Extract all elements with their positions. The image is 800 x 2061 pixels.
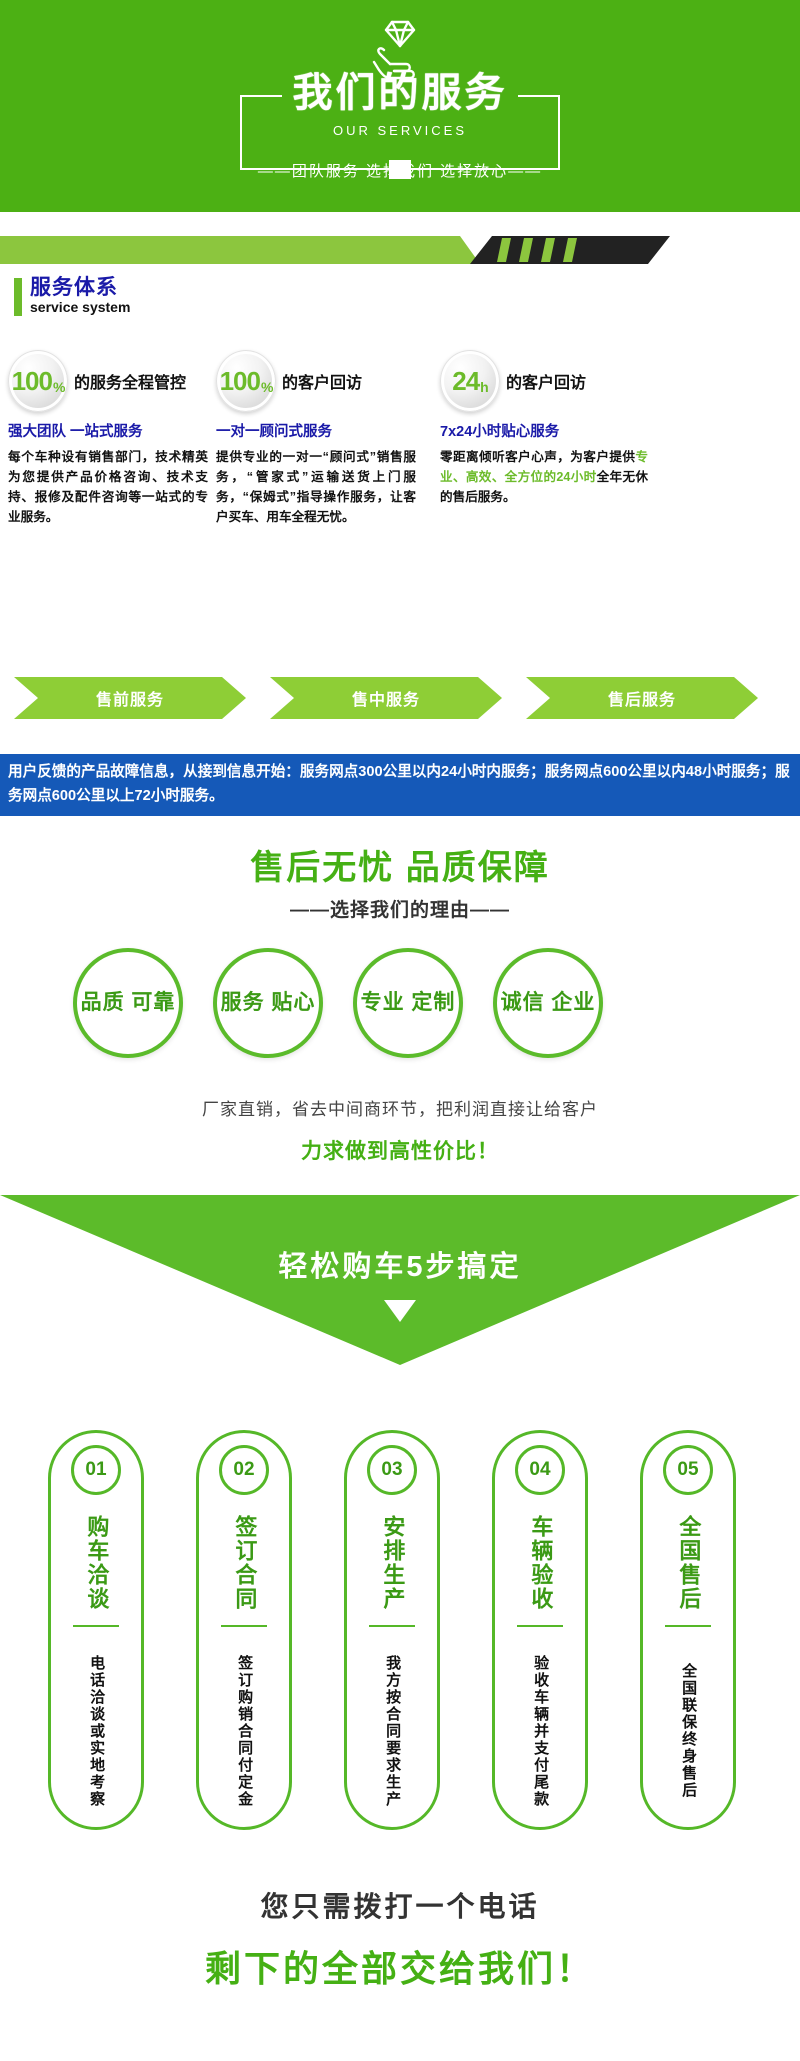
step-card-2[interactable]: 02 签订合同 签订购销合同付定金 (196, 1430, 292, 1830)
step-desc-5: 全国联保终身售后 (678, 1637, 698, 1825)
chevron-label-2: 售中服务 (352, 686, 420, 710)
reason-bubble-label-1: 品质 可靠 (81, 990, 176, 1016)
step-number-4: 04 (515, 1445, 565, 1495)
service-policy-note: 用户反馈的产品故障信息，从接到信息开始：服务网点300公里以内24小时内服务；服… (0, 754, 800, 816)
step-card-5[interactable]: 05 全国售后 全国联保终身售后 (640, 1430, 736, 1830)
step-number-2: 02 (219, 1445, 269, 1495)
chevron-in-sales[interactable]: 售中服务 (270, 677, 502, 719)
step-title-1: 购车洽谈 (84, 1507, 109, 1619)
reason-bubble-quality[interactable]: 品质 可靠 (73, 948, 183, 1058)
footer-line-1: 您只需拨打一个电话 (0, 1885, 800, 1925)
factory-direct-line: 厂家直销，省去中间商环节，把利润直接让给客户 (0, 1095, 800, 1120)
down-caret-icon (384, 1300, 416, 1322)
stat-body-3: 零距离倾听客户心声，为客户提供专业、高效、全方位的24小时全年无休的售后服务。 (440, 448, 648, 508)
stat-column-3: 24h 的客户回访 7x24小时贴心服务 零距离倾听客户心声，为客户提供专业、高… (440, 350, 690, 508)
step-title-4: 车辆验收 (528, 1507, 553, 1619)
hero-tagline: ——团队服务 选择我们 选择放心—— (0, 160, 800, 181)
value-ratio-line: 力求做到高性价比！ (0, 1135, 800, 1165)
step-title-3: 安排生产 (380, 1507, 405, 1619)
stat-body-3-part-1: 零距离倾听客户心声，为客户提供 (440, 450, 635, 464)
step-desc-4: 验收车辆并支付尾款 (530, 1637, 550, 1825)
stat-column-2: 100% 的客户回访 一对一顾问式服务 提供专业的一对一“顾问式”销售服务，“管… (216, 350, 466, 528)
section-decor-bar (0, 232, 800, 268)
step-card-3[interactable]: 03 安排生产 我方按合同要求生产 (344, 1430, 440, 1830)
reasons-subtitle: ——选择我们的理由—— (0, 895, 800, 922)
section-title-en: service system (30, 299, 130, 316)
stat-heading-2: 一对一顾问式服务 (216, 420, 466, 441)
step-card-4[interactable]: 04 车辆验收 验收车辆并支付尾款 (492, 1430, 588, 1830)
stat-value-1: 100 (12, 368, 52, 394)
service-phase-chevrons: 售前服务 售中服务 售后服务 (0, 677, 800, 719)
stat-caption-3: 的客户回访 (506, 369, 586, 393)
stat-heading-3: 7x24小时贴心服务 (440, 420, 690, 441)
section-tick-icon (14, 278, 22, 316)
stat-value-2: 100 (220, 368, 260, 394)
page-subtitle: OUR SERVICES (240, 123, 560, 138)
chevron-label-1: 售前服务 (96, 686, 164, 710)
reason-bubble-label-4: 诚信 企业 (501, 990, 596, 1016)
step-divider-1 (73, 1625, 119, 1627)
step-title-5: 全国售后 (676, 1507, 701, 1619)
step-desc-3: 我方按合同要求生产 (382, 1637, 402, 1825)
step-divider-2 (221, 1625, 267, 1627)
five-step-banner-text: 轻松购车5步搞定 (0, 1243, 800, 1285)
step-number-1: 01 (71, 1445, 121, 1495)
step-desc-2: 签订购销合同付定金 (234, 1637, 254, 1825)
step-desc-1: 电话洽谈或实地考察 (86, 1637, 106, 1825)
stat-caption-1: 的服务全程管控 (74, 369, 186, 393)
chevron-after-sales[interactable]: 售后服务 (526, 677, 758, 719)
reason-bubble-custom[interactable]: 专业 定制 (353, 948, 463, 1058)
step-divider-3 (369, 1625, 415, 1627)
reason-bubble-integrity[interactable]: 诚信 企业 (493, 948, 603, 1058)
reason-bubble-label-2: 服务 贴心 (221, 990, 316, 1016)
reasons-title: 售后无忧 品质保障 (0, 840, 800, 889)
section-header-service-system: 服务体系 service system (14, 276, 130, 316)
stat-body-1: 每个车种设有销售部门，技术精英为您提供产品价格咨询、技术支持、报修及配件咨询等一… (8, 448, 208, 528)
step-number-5: 05 (663, 1445, 713, 1495)
stat-badge-1: 100% (8, 350, 68, 412)
stat-unit-2: % (261, 380, 272, 394)
step-title-2: 签订合同 (232, 1507, 257, 1619)
five-step-banner: 轻松购车5步搞定 (0, 1195, 800, 1405)
reason-bubble-label-3: 专业 定制 (361, 990, 456, 1016)
hero-banner: 我们的服务 OUR SERVICES ——团队服务 选择我们 选择放心—— (0, 0, 800, 212)
stat-unit-1: % (53, 380, 64, 394)
chevron-pre-sales[interactable]: 售前服务 (14, 677, 246, 719)
hero-title-frame: 我们的服务 OUR SERVICES (240, 95, 560, 170)
footer-line-2: 剩下的全部交给我们！ (0, 1940, 800, 1992)
stat-unit-3: h (480, 380, 488, 394)
purchase-steps: 01 购车洽谈 电话洽谈或实地考察 02 签订合同 签订购销合同付定金 03 安… (0, 1430, 800, 1850)
step-divider-4 (517, 1625, 563, 1627)
step-divider-5 (665, 1625, 711, 1627)
stat-body-2: 提供专业的一对一“顾问式”销售服务，“管家式”运输送货上门服务，“保姆式”指导操… (216, 448, 416, 528)
decor-bar-green (0, 236, 480, 264)
section-title-cn: 服务体系 (30, 276, 130, 299)
step-number-3: 03 (367, 1445, 417, 1495)
stat-value-3: 24 (452, 368, 479, 394)
chevron-label-3: 售后服务 (608, 686, 676, 710)
stat-caption-2: 的客户回访 (282, 369, 362, 393)
stat-badge-2: 100% (216, 350, 276, 412)
reason-bubble-service[interactable]: 服务 贴心 (213, 948, 323, 1058)
step-card-1[interactable]: 01 购车洽谈 电话洽谈或实地考察 (48, 1430, 144, 1830)
stat-badge-3: 24h (440, 350, 500, 412)
page-title: 我们的服务 (240, 73, 560, 113)
reason-bubbles: 品质 可靠 服务 贴心 专业 定制 诚信 企业 (0, 948, 800, 1063)
